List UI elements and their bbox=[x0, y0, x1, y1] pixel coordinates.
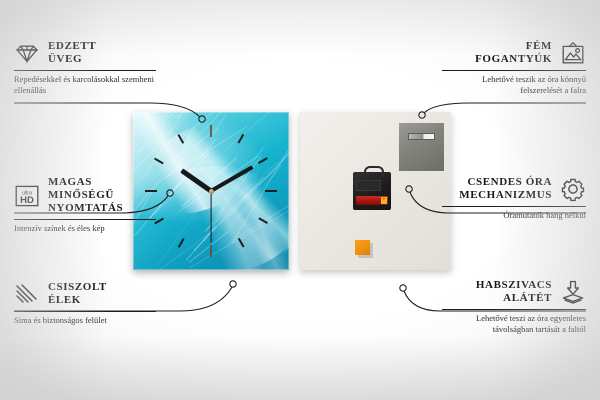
feature-subtitle: Lehetővé teszi az óra egyenletes távolsá… bbox=[442, 313, 586, 335]
feature-subtitle: Sima és biztonságos felület bbox=[14, 315, 156, 326]
feature-foam-pad: HABSZIVACSALÁTÉT Lehetővé teszi az óra e… bbox=[442, 279, 586, 335]
feature-rule bbox=[14, 70, 156, 71]
feature-rule bbox=[442, 70, 586, 71]
ultra-hd-icon: ultra HD bbox=[14, 183, 40, 209]
diamond-icon bbox=[14, 40, 40, 66]
feature-subtitle: Repedésekkel és karcolásokkal szembeni e… bbox=[14, 74, 156, 96]
hour-tick bbox=[210, 245, 212, 257]
feature-rule bbox=[442, 309, 586, 310]
feature-high-quality-print: ultra HD MAGAS MINŐSÉGŰNYOMTATÁS Intenzí… bbox=[14, 176, 156, 234]
infographic-canvas: + bbox=[0, 0, 600, 400]
gear-icon bbox=[560, 176, 586, 202]
feature-header: HABSZIVACSALÁTÉT bbox=[442, 279, 586, 305]
metal-hanger-bracket bbox=[399, 123, 444, 171]
feature-silent-mechanism: CSENDES ÓRAMECHANIZMUS Óramutatók hang n… bbox=[442, 176, 586, 221]
product-photo: + bbox=[133, 112, 451, 270]
connector-dot bbox=[400, 285, 406, 291]
feature-rule bbox=[14, 219, 156, 220]
foam-pad-icon bbox=[560, 279, 586, 305]
feature-header: CSISZOLTÉLEK bbox=[14, 281, 156, 307]
feature-header: EDZETTÜVEG bbox=[14, 40, 156, 66]
svg-text:HD: HD bbox=[20, 195, 34, 206]
feature-subtitle: Óramutatók hang nélkül bbox=[442, 210, 586, 221]
battery-plus-label: + bbox=[381, 197, 387, 204]
feature-rule bbox=[14, 311, 156, 312]
clock-center-hub bbox=[209, 189, 214, 194]
hour-tick bbox=[210, 125, 212, 137]
feature-subtitle: Intenzív színek és éles kép bbox=[14, 223, 156, 234]
feature-tempered-glass: EDZETTÜVEG Repedésekkel és karcolásokkal… bbox=[14, 40, 156, 96]
feature-title: CSISZOLTÉLEK bbox=[48, 281, 107, 307]
feature-header: CSENDES ÓRAMECHANIZMUS bbox=[442, 176, 586, 202]
feature-metal-handles: FÉMFOGANTYÚK Lehetővé teszik az óra könn… bbox=[442, 40, 586, 96]
battery: + bbox=[356, 196, 388, 205]
foam-pad bbox=[355, 240, 370, 255]
picture-hanger-icon bbox=[560, 40, 586, 66]
mechanism-seam bbox=[356, 180, 381, 191]
feature-title: CSENDES ÓRAMECHANIZMUS bbox=[459, 176, 552, 202]
clock-mechanism: + bbox=[353, 172, 391, 210]
wall-clock-front bbox=[133, 112, 289, 270]
mechanism-loop bbox=[364, 166, 384, 177]
hour-tick bbox=[265, 190, 277, 192]
hanger-slot bbox=[408, 133, 435, 140]
feature-subtitle: Lehetővé teszik az óra könnyű felszerelé… bbox=[442, 74, 586, 96]
feature-rule bbox=[442, 206, 586, 207]
connector-dot bbox=[230, 281, 236, 287]
feature-header: ultra HD MAGAS MINŐSÉGŰNYOMTATÁS bbox=[14, 176, 156, 215]
sec-hand bbox=[210, 191, 211, 243]
feature-header: FÉMFOGANTYÚK bbox=[442, 40, 586, 66]
clock-back-panel: + bbox=[300, 112, 451, 270]
feature-title: HABSZIVACSALÁTÉT bbox=[476, 279, 552, 305]
feature-title: MAGAS MINŐSÉGŰNYOMTATÁS bbox=[48, 176, 156, 215]
feature-polished-edges: CSISZOLTÉLEK Sima és biztonságos felület bbox=[14, 281, 156, 326]
polished-edges-icon bbox=[14, 281, 40, 307]
feature-title: FÉMFOGANTYÚK bbox=[475, 40, 552, 66]
feature-title: EDZETTÜVEG bbox=[48, 40, 96, 66]
